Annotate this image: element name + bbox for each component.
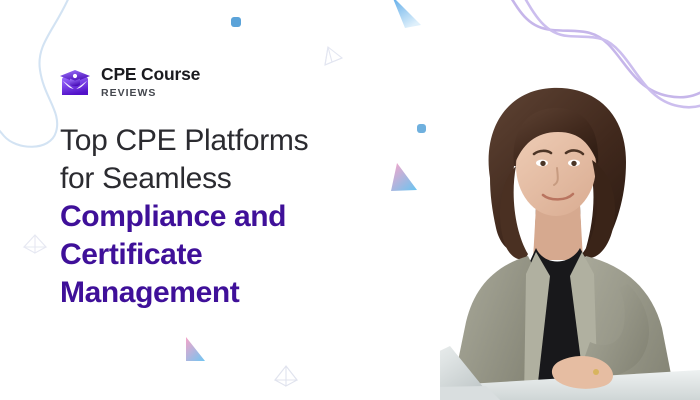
- logo-title: CPE Course: [101, 66, 200, 84]
- ring: [593, 369, 599, 375]
- blue-gradient-triangle-top: [392, 0, 421, 28]
- headline-line-5: Management: [60, 274, 390, 312]
- outline-pyramid-bottom-center: [275, 366, 297, 386]
- brand-logo[interactable]: CPE Course REVIEWS: [58, 66, 200, 98]
- logo-subtitle: REVIEWS: [101, 88, 200, 99]
- outline-pyramid-left: [24, 235, 46, 253]
- headline-line-3: Compliance and: [60, 198, 390, 236]
- pink-gradient-triangle-center: [391, 163, 417, 191]
- graduation-cap-envelope-icon: [58, 66, 92, 98]
- promo-banner: CPE Course REVIEWS Top CPE Platforms for…: [0, 0, 700, 400]
- page-title: Top CPE Platforms for Seamless Complianc…: [60, 122, 390, 312]
- headline-line-1: Top CPE Platforms: [60, 122, 390, 160]
- hero-photo: [440, 70, 700, 400]
- headline-line-2: for Seamless: [60, 160, 390, 198]
- headline-line-4: Certificate: [60, 236, 390, 274]
- outline-pyramid-top-center: [325, 47, 342, 65]
- blue-dot-center: [417, 124, 426, 133]
- pink-gradient-triangle-bottom-left: [186, 337, 205, 361]
- blue-dot-top-left: [231, 17, 241, 27]
